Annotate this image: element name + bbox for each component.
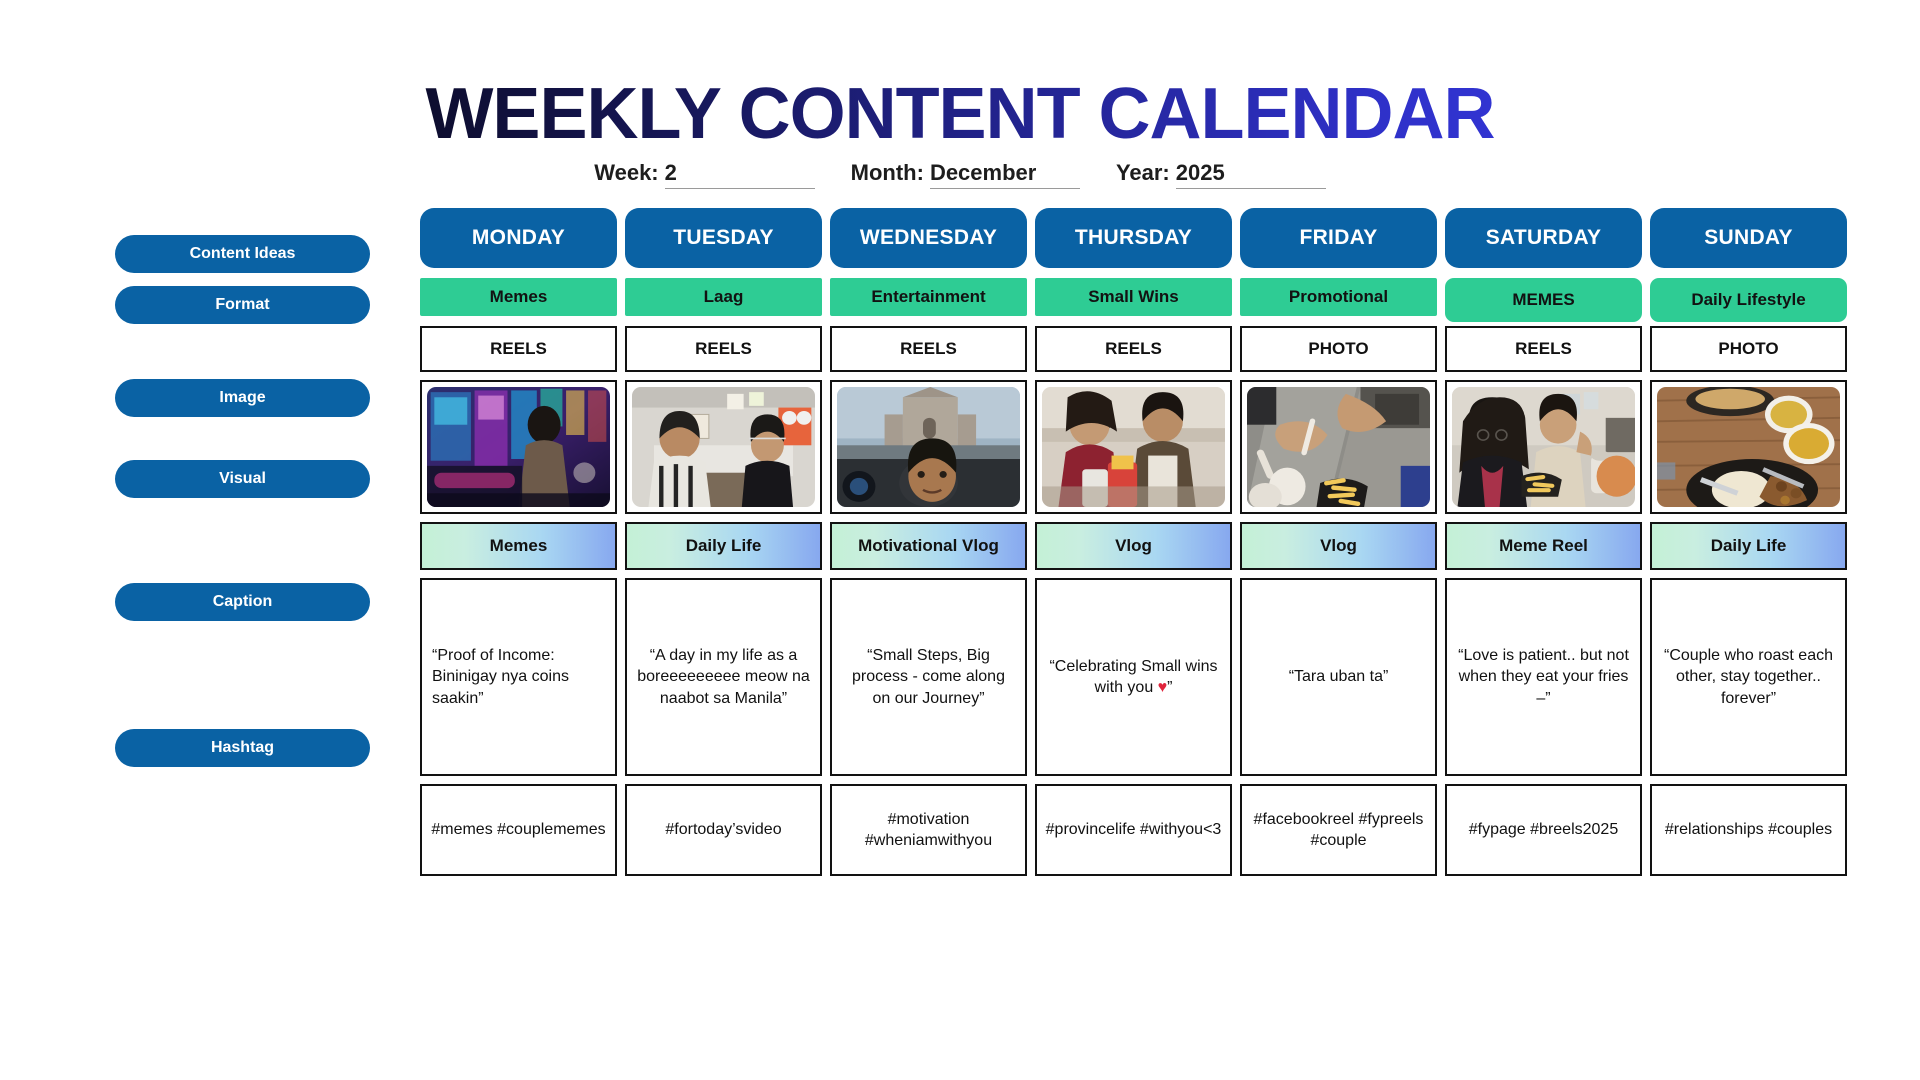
week-value[interactable]: 2	[665, 160, 815, 189]
day-header-label: SUNDAY	[1704, 226, 1793, 250]
day-header-thursday[interactable]: THURSDAY	[1035, 208, 1232, 268]
hashtag-text: #relationships #couples	[1665, 819, 1832, 840]
format-cell-sunday[interactable]: PHOTO	[1650, 326, 1847, 372]
day-header-label: THURSDAY	[1075, 226, 1192, 250]
content-idea-label: Entertainment	[871, 287, 985, 307]
sidebar-item-label: Visual	[219, 470, 266, 488]
sidebar-item-caption[interactable]: Caption	[115, 583, 370, 621]
day-header-friday[interactable]: FRIDAY	[1240, 208, 1437, 268]
visual-label: Daily Life	[686, 536, 762, 556]
hashtag-text: #fypage #breels2025	[1469, 819, 1618, 840]
content-idea-tuesday[interactable]: Laag	[625, 278, 822, 316]
format-row: REELS REELS REELS REELS PHOTO REELS PHOT…	[420, 326, 1835, 372]
row-label-sidebar: Content Ideas Format Image Visual Captio…	[0, 0, 420, 1080]
caption-text: “Couple who roast each other, stay toget…	[1662, 645, 1835, 708]
caption-text: “Celebrating Small wins with you ♥”	[1047, 656, 1220, 698]
visual-cell-monday[interactable]: Memes	[420, 522, 617, 570]
caption-text: “A day in my life as a boreeeeeeeee meow…	[637, 645, 810, 708]
caption-cell-monday[interactable]: “Proof of Income: Bininigay nya coins sa…	[420, 578, 617, 776]
visual-cell-tuesday[interactable]: Daily Life	[625, 522, 822, 570]
couple-eating-fast-food-photo	[1042, 387, 1225, 507]
content-idea-wednesday[interactable]: Entertainment	[830, 278, 1027, 316]
year-value[interactable]: 2025	[1176, 160, 1326, 189]
year-field[interactable]: Year: 2025	[1116, 160, 1326, 189]
day-header-monday[interactable]: MONDAY	[420, 208, 617, 268]
format-label: PHOTO	[1308, 339, 1368, 359]
caption-cell-wednesday[interactable]: “Small Steps, Big process - come along o…	[830, 578, 1027, 776]
day-header-wednesday[interactable]: WEDNESDAY	[830, 208, 1027, 268]
image-cell-tuesday[interactable]	[625, 380, 822, 514]
selfie-in-front-of-church-photo	[837, 387, 1020, 507]
hashtag-cell-friday[interactable]: #facebookreel #fypreels #couple	[1240, 784, 1437, 876]
content-idea-saturday[interactable]: MEMES	[1445, 278, 1642, 322]
caption-cell-sunday[interactable]: “Couple who roast each other, stay toget…	[1650, 578, 1847, 776]
calendar-grid: MONDAY TUESDAY WEDNESDAY THURSDAY FRIDAY…	[420, 208, 1835, 876]
sidebar-item-hashtag[interactable]: Hashtag	[115, 729, 370, 767]
caption-text: “Love is patient.. but not when they eat…	[1457, 645, 1630, 708]
caption-cell-friday[interactable]: “Tara uban ta”	[1240, 578, 1437, 776]
caption-row: “Proof of Income: Bininigay nya coins sa…	[420, 578, 1835, 776]
day-header-label: MONDAY	[472, 226, 565, 250]
format-cell-tuesday[interactable]: REELS	[625, 326, 822, 372]
image-cell-saturday[interactable]	[1445, 380, 1642, 514]
hashtag-text: #facebookreel #fypreels #couple	[1250, 809, 1427, 851]
visual-label: Vlog	[1320, 536, 1357, 556]
visual-label: Daily Life	[1711, 536, 1787, 556]
sidebar-item-label: Content Ideas	[190, 245, 296, 263]
hashtag-text: #fortoday’svideo	[665, 819, 781, 840]
day-header-label: FRIDAY	[1299, 226, 1377, 250]
hashtag-text: #memes #couplememes	[431, 819, 605, 840]
sidebar-item-content-ideas[interactable]: Content Ideas	[115, 235, 370, 273]
content-idea-label: Daily Lifestyle	[1691, 290, 1805, 310]
visual-cell-wednesday[interactable]: Motivational Vlog	[830, 522, 1027, 570]
hashtag-cell-monday[interactable]: #memes #couplememes	[420, 784, 617, 876]
sidebar-item-visual[interactable]: Visual	[115, 460, 370, 498]
day-header-sunday[interactable]: SUNDAY	[1650, 208, 1847, 268]
visual-label: Vlog	[1115, 536, 1152, 556]
format-label: REELS	[490, 339, 547, 359]
visual-label: Meme Reel	[1499, 536, 1588, 556]
couple-at-milk-tea-counter-photo	[632, 387, 815, 507]
visual-label: Motivational Vlog	[858, 536, 999, 556]
content-idea-sunday[interactable]: Daily Lifestyle	[1650, 278, 1847, 322]
sizzling-plate-rice-and-soup-photo	[1657, 387, 1840, 507]
image-row	[420, 380, 1835, 514]
month-value[interactable]: December	[930, 160, 1080, 189]
visual-cell-friday[interactable]: Vlog	[1240, 522, 1437, 570]
format-label: REELS	[900, 339, 957, 359]
caption-cell-saturday[interactable]: “Love is patient.. but not when they eat…	[1445, 578, 1642, 776]
heart-icon: ♥	[1158, 679, 1168, 696]
month-label: Month:	[851, 160, 924, 186]
sidebar-item-label: Hashtag	[211, 739, 274, 757]
sidebar-item-label: Format	[215, 296, 269, 314]
image-cell-wednesday[interactable]	[830, 380, 1027, 514]
image-cell-friday[interactable]	[1240, 380, 1437, 514]
day-header-label: WEDNESDAY	[860, 226, 997, 250]
day-header-saturday[interactable]: SATURDAY	[1445, 208, 1642, 268]
format-cell-wednesday[interactable]: REELS	[830, 326, 1027, 372]
week-label: Week:	[594, 160, 658, 186]
content-ideas-row: Memes Laag Entertainment Small Wins Prom…	[420, 278, 1835, 316]
sidebar-item-image[interactable]: Image	[115, 379, 370, 417]
visual-cell-sunday[interactable]: Daily Life	[1650, 522, 1847, 570]
hashtag-cell-tuesday[interactable]: #fortoday’svideo	[625, 784, 822, 876]
month-field[interactable]: Month: December	[851, 160, 1080, 189]
day-header-tuesday[interactable]: TUESDAY	[625, 208, 822, 268]
caption-text-post: ”	[1167, 679, 1172, 696]
format-cell-saturday[interactable]: REELS	[1445, 326, 1642, 372]
arcade-pinball-machines-photo	[427, 387, 610, 507]
content-idea-label: MEMES	[1512, 290, 1574, 310]
visual-cell-saturday[interactable]: Meme Reel	[1445, 522, 1642, 570]
image-cell-sunday[interactable]	[1650, 380, 1847, 514]
day-header-label: TUESDAY	[673, 226, 774, 250]
sidebar-item-format[interactable]: Format	[115, 286, 370, 324]
image-cell-monday[interactable]	[420, 380, 617, 514]
week-field[interactable]: Week: 2	[594, 160, 814, 189]
hashtag-cell-saturday[interactable]: #fypage #breels2025	[1445, 784, 1642, 876]
content-idea-friday[interactable]: Promotional	[1240, 278, 1437, 316]
image-cell-thursday[interactable]	[1035, 380, 1232, 514]
content-idea-label: Memes	[490, 287, 548, 307]
hashtag-row: #memes #couplememes #fortoday’svideo #mo…	[420, 784, 1835, 876]
visual-cell-thursday[interactable]: Vlog	[1035, 522, 1232, 570]
format-label: REELS	[695, 339, 752, 359]
format-cell-thursday[interactable]: REELS	[1035, 326, 1232, 372]
visual-row: Memes Daily Life Motivational Vlog Vlog …	[420, 522, 1835, 570]
weekly-content-calendar-page: WEEKLY CONTENT CALENDAR Week: 2 Month: D…	[0, 0, 1920, 1080]
content-idea-label: Promotional	[1289, 287, 1388, 307]
caption-text-pre: “Celebrating Small wins with you	[1049, 658, 1217, 696]
format-cell-monday[interactable]: REELS	[420, 326, 617, 372]
format-label: REELS	[1105, 339, 1162, 359]
caption-cell-tuesday[interactable]: “A day in my life as a boreeeeeeeee meow…	[625, 578, 822, 776]
hashtag-text: #motivation #wheniamwithyou	[840, 809, 1017, 851]
hashtag-cell-thursday[interactable]: #provincelife #withyou<3	[1035, 784, 1232, 876]
caption-text: “Small Steps, Big process - come along o…	[842, 645, 1015, 708]
hashtag-cell-sunday[interactable]: #relationships #couples	[1650, 784, 1847, 876]
hashtag-cell-wednesday[interactable]: #motivation #wheniamwithyou	[830, 784, 1027, 876]
format-label: REELS	[1515, 339, 1572, 359]
sidebar-item-label: Image	[219, 389, 265, 407]
caption-text: “Tara uban ta”	[1252, 666, 1425, 687]
sidebar-item-label: Caption	[213, 593, 273, 611]
hands-with-fries-and-drinks-photo	[1247, 387, 1430, 507]
content-idea-label: Small Wins	[1088, 287, 1179, 307]
caption-text: “Proof of Income: Bininigay nya coins sa…	[432, 645, 605, 708]
year-label: Year:	[1116, 160, 1170, 186]
format-label: PHOTO	[1718, 339, 1778, 359]
hashtag-text: #provincelife #withyou<3	[1046, 819, 1222, 840]
content-idea-label: Laag	[704, 287, 744, 307]
content-idea-thursday[interactable]: Small Wins	[1035, 278, 1232, 316]
format-cell-friday[interactable]: PHOTO	[1240, 326, 1437, 372]
day-header-label: SATURDAY	[1486, 226, 1602, 250]
visual-label: Memes	[490, 536, 548, 556]
caption-cell-thursday[interactable]: “Celebrating Small wins with you ♥”	[1035, 578, 1232, 776]
couple-at-table-with-fries-photo	[1452, 387, 1635, 507]
content-idea-monday[interactable]: Memes	[420, 278, 617, 316]
day-header-row: MONDAY TUESDAY WEDNESDAY THURSDAY FRIDAY…	[420, 208, 1835, 268]
